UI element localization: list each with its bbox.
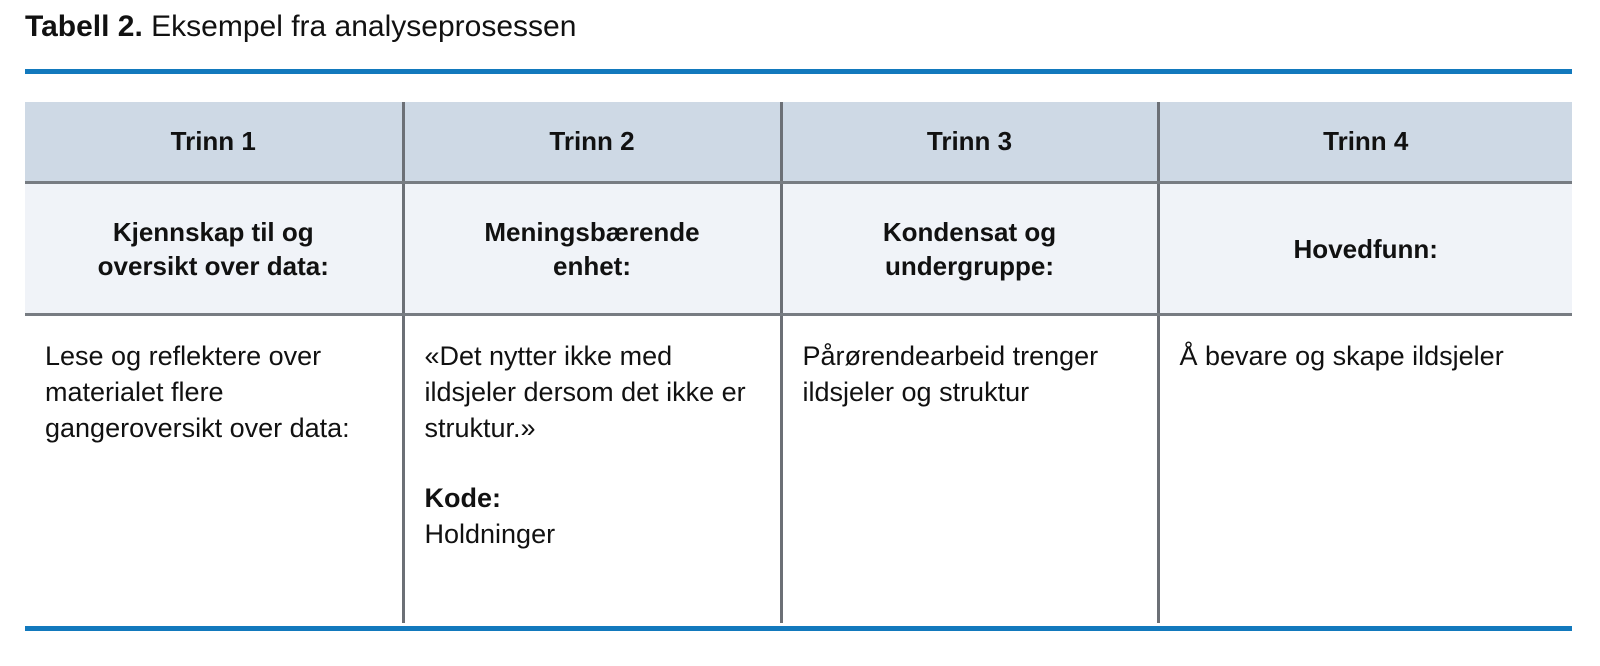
header-step-1: Trinn 1 [25, 102, 403, 183]
header-step-2: Trinn 2 [403, 102, 781, 183]
caption-label: Tabell 2. [25, 10, 143, 43]
header-desc-3-line1: Kondensat og [795, 215, 1145, 249]
cell-step-2-code-value: Holdninger [425, 516, 756, 552]
header-desc-4: Hovedfunn: [1158, 183, 1572, 315]
header-desc-4-line1: Hovedfunn: [1172, 232, 1561, 266]
header-desc-3: Kondensat og undergruppe: [781, 183, 1158, 315]
analysis-table: Trinn 1 Trinn 2 Trinn 3 Trinn 4 Kjennska… [25, 102, 1572, 623]
header-desc-2-line1: Meningsbærende [417, 215, 768, 249]
cell-step-3: Pårørendearbeid trenger ildsjeler og str… [781, 315, 1158, 624]
header-step-3: Trinn 3 [781, 102, 1158, 183]
top-rule [25, 69, 1572, 74]
header-desc-1-line2: oversikt over data: [37, 249, 390, 283]
table-figure: Tabell 2. Eksempel fra analyseprosessen … [0, 0, 1600, 666]
header-step-4: Trinn 4 [1158, 102, 1572, 183]
bottom-rule [25, 626, 1572, 631]
cell-step-3-text: Pårørendearbeid trenger ildsjeler og str… [803, 338, 1133, 410]
header-desc-2-line2: enhet: [417, 249, 768, 283]
cell-step-1-text: Lese og reflektere over materialet flere… [45, 338, 378, 446]
caption-text: Eksempel fra analyseprosessen [143, 10, 577, 43]
table-header-row-descriptions: Kjennskap til og oversikt over data: Men… [25, 183, 1572, 315]
header-desc-2: Meningsbærende enhet: [403, 183, 781, 315]
cell-step-2-code-label: Kode: [425, 480, 756, 516]
header-desc-3-line2: undergruppe: [795, 249, 1145, 283]
cell-step-2-quote: «Det nytter ikke med ildsjeler dersom de… [425, 338, 756, 446]
cell-step-2: «Det nytter ikke med ildsjeler dersom de… [403, 315, 781, 624]
table-header-row-steps: Trinn 1 Trinn 2 Trinn 3 Trinn 4 [25, 102, 1572, 183]
table-caption: Tabell 2. Eksempel fra analyseprosessen [25, 8, 1565, 46]
cell-step-1: Lese og reflektere over materialet flere… [25, 315, 403, 624]
table-row: Lese og reflektere over materialet flere… [25, 315, 1572, 624]
header-desc-1-line1: Kjennskap til og [37, 215, 390, 249]
cell-spacer [425, 446, 756, 480]
cell-step-4: Å bevare og skape ildsjeler [1158, 315, 1572, 624]
header-desc-1: Kjennskap til og oversikt over data: [25, 183, 403, 315]
cell-step-4-text: Å bevare og skape ildsjeler [1180, 338, 1549, 374]
